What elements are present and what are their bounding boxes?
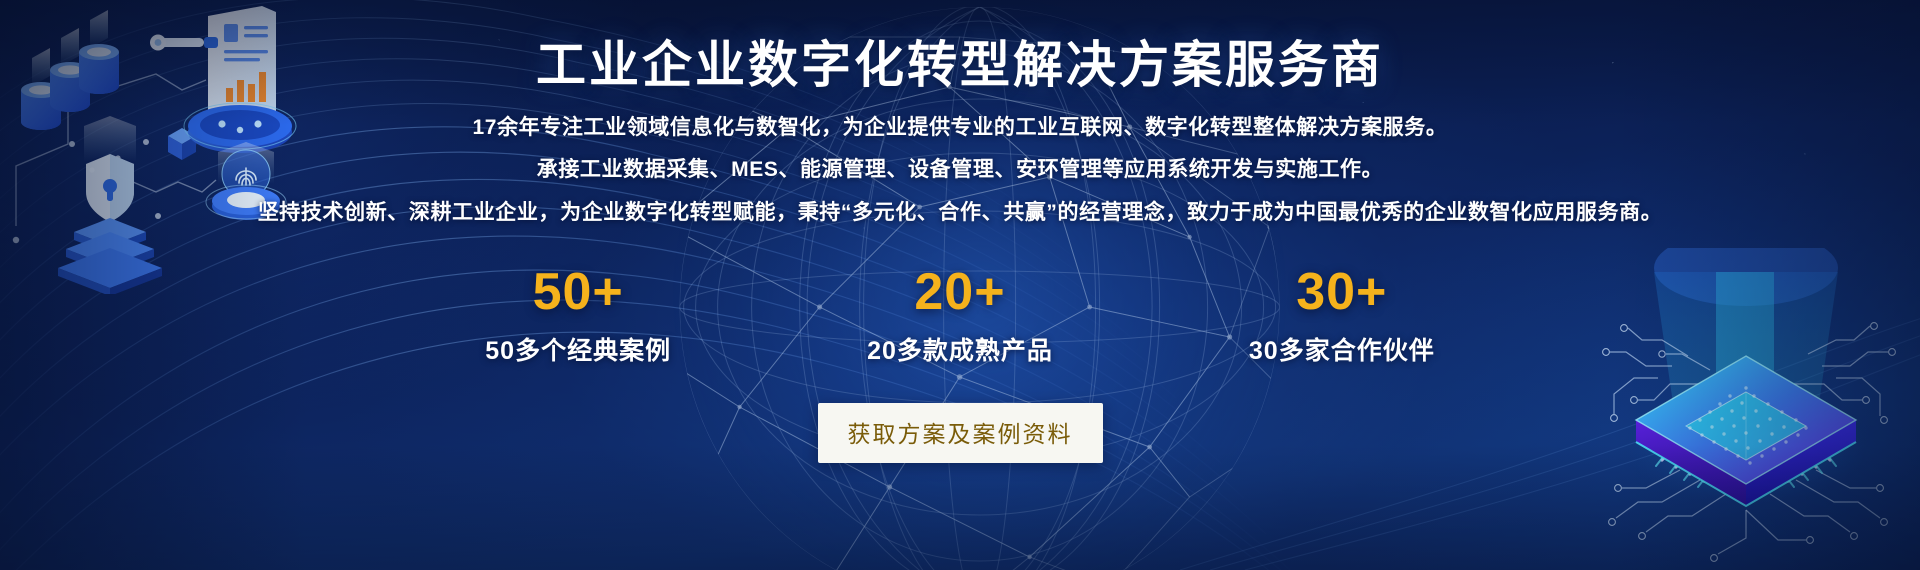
stats-row: 50+ 50多个经典案例 20+ 20多款成熟产品 30+ 30多家合作伙伴 [485, 266, 1434, 367]
page-title: 工业企业数字化转型解决方案服务商 [536, 38, 1384, 93]
stat-number: 20+ [914, 266, 1005, 318]
stat-label: 20多款成熟产品 [867, 331, 1053, 367]
subtitle-line-2: 承接工业数据采集、MES、能源管理、设备管理、安环管理等应用系统开发与实施工作。 [537, 157, 1384, 183]
stat-label: 30多家合作伙伴 [1249, 331, 1435, 367]
stat-item-products: 20+ 20多款成熟产品 [867, 266, 1053, 367]
stat-label: 50多个经典案例 [485, 331, 671, 367]
hero-banner: 工业企业数字化转型解决方案服务商 17余年专注工业领域信息化与数智化，为企业提供… [0, 0, 1920, 570]
stat-number: 50+ [533, 266, 624, 318]
stat-item-partners: 30+ 30多家合作伙伴 [1249, 266, 1435, 367]
subtitle-group: 17余年专注工业领域信息化与数智化，为企业提供专业的工业互联网、数字化转型整体解… [258, 115, 1663, 226]
banner-content: 工业企业数字化转型解决方案服务商 17余年专注工业领域信息化与数智化，为企业提供… [0, 0, 1920, 570]
stat-item-cases: 50+ 50多个经典案例 [485, 266, 671, 367]
stat-number: 30+ [1296, 266, 1387, 318]
subtitle-line-3: 坚持技术创新、深耕工业企业，为企业数字化转型赋能，秉持“多元化、合作、共赢”的经… [258, 200, 1663, 226]
get-solution-materials-button[interactable]: 获取方案及案例资料 [818, 403, 1103, 463]
subtitle-line-1: 17余年专注工业领域信息化与数智化，为企业提供专业的工业互联网、数字化转型整体解… [473, 115, 1448, 141]
